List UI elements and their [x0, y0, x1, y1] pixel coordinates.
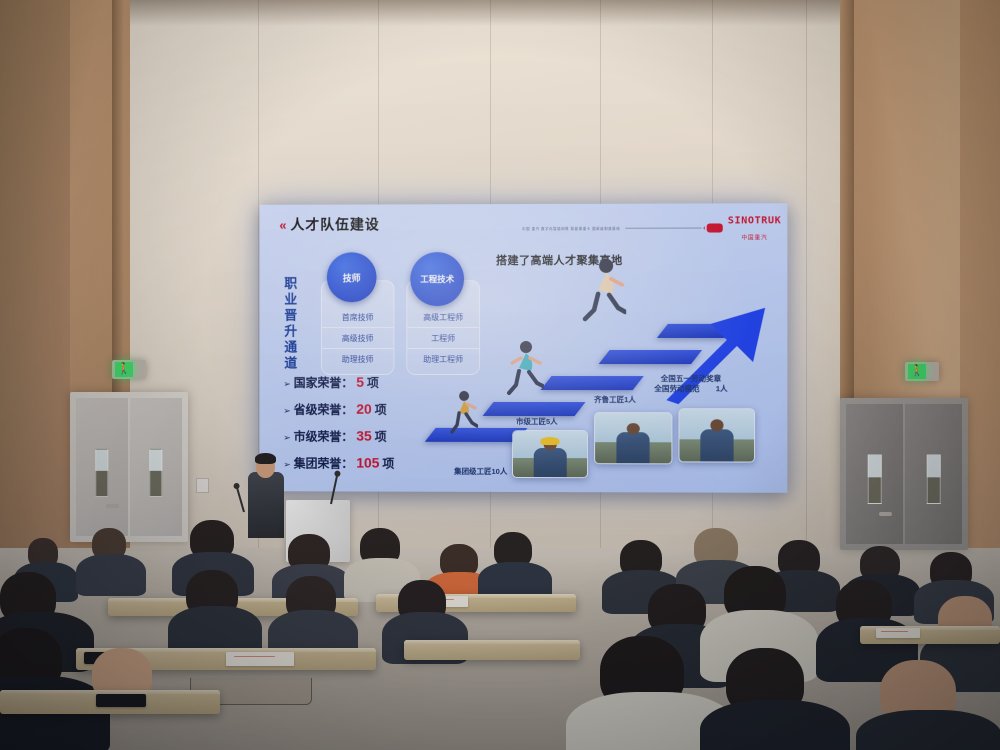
- career-level: 助理技师: [322, 349, 393, 369]
- honor-row: ➢ 省级荣誉： 20 项: [283, 401, 394, 418]
- ceiling-shadow: [118, 0, 848, 26]
- brand-lockup: 中国 重汽 数字化智能网联 新能源重卡 国家级制造基地 SINOTRUK 中国重…: [522, 211, 781, 244]
- exit-running-man-icon: 🚶: [115, 362, 133, 377]
- career-level: 首席技师: [322, 307, 393, 328]
- projection-screen: « 人才队伍建设 中国 重汽 数字化智能网联 新能源重卡 国家级制造基地 SIN…: [260, 203, 788, 493]
- step-caption-2: 市级工匠5人: [516, 416, 558, 427]
- honor-unit: 项: [375, 428, 387, 445]
- door-handle[interactable]: [106, 504, 119, 508]
- honor-unit: 项: [375, 401, 387, 418]
- honors-list: ➢ 国家荣誉： 5 项 ➢ 省级荣誉： 20 项 ➢ 市级荣誉： 35 项 ➢ …: [283, 374, 394, 482]
- door-window: [149, 448, 162, 497]
- door-leaf[interactable]: [76, 398, 128, 536]
- career-track-technician-badge: 技师: [327, 252, 377, 302]
- award-line-1: 全国五一劳动奖章: [661, 374, 721, 383]
- award-line-2: 全国劳动模范: [654, 384, 699, 393]
- left-wall-far: [0, 0, 70, 560]
- slide-title: « 人才队伍建设: [279, 214, 379, 234]
- worker-photo-2: [594, 412, 672, 464]
- step-caption-3: 齐鲁工匠1人: [594, 394, 636, 405]
- honor-label: 省级荣誉：: [294, 401, 353, 418]
- honor-label: 市级荣誉：: [294, 428, 353, 445]
- honor-value: 5: [356, 374, 364, 390]
- runner-figure-2: [506, 340, 544, 396]
- step-3: [541, 376, 644, 390]
- brand-name-en: SINOTRUK: [728, 215, 781, 226]
- career-track-engineering-badge: 工程技术: [410, 252, 464, 306]
- career-level: 高级技师: [322, 328, 393, 349]
- bullet-arrow-icon: ➢: [283, 406, 290, 417]
- brand-text: SINOTRUK 中国重汽: [728, 211, 781, 243]
- slide-title-text: 人才队伍建设: [290, 214, 379, 234]
- light-switch[interactable]: [196, 478, 209, 493]
- door-left[interactable]: [70, 392, 188, 542]
- door-window: [867, 454, 882, 504]
- sinotruk-emblem-icon: [707, 223, 723, 232]
- bullet-arrow-icon: ➢: [283, 459, 290, 470]
- door-leaf[interactable]: [905, 404, 962, 544]
- bullet-arrow-icon: ➢: [283, 379, 290, 390]
- honor-value: 105: [356, 455, 379, 471]
- brand-tagline: 中国 重汽 数字化智能网联 新能源重卡 国家级制造基地: [522, 225, 620, 230]
- bullet-arrow-icon: ➢: [283, 433, 290, 444]
- award-caption: 全国五一劳动奖章 全国劳动模范 1人: [654, 374, 727, 394]
- exit-running-man-icon: 🚶: [908, 364, 926, 379]
- audience-body: [700, 700, 850, 750]
- honor-label: 国家荣誉：: [294, 374, 353, 391]
- brand-name-cn: 中国重汽: [741, 235, 767, 241]
- door-right[interactable]: [840, 398, 968, 550]
- honor-row: ➢ 集团荣誉： 105 项: [283, 454, 394, 471]
- brand-rule: [625, 227, 701, 228]
- award-count: 1人: [716, 384, 728, 393]
- honor-unit: 项: [382, 455, 394, 472]
- desk-row: [404, 640, 580, 660]
- presenter-hair: [255, 453, 276, 464]
- paper-handout[interactable]: [876, 628, 920, 638]
- honor-value: 20: [356, 401, 371, 417]
- honor-value: 35: [356, 428, 371, 444]
- exit-sign-right: 🚶: [905, 362, 939, 381]
- door-window: [926, 454, 941, 504]
- chevron-left-icon: «: [279, 217, 284, 232]
- door-window: [95, 448, 108, 497]
- exit-sign-left: 🚶: [112, 360, 146, 379]
- door-leaf[interactable]: [130, 398, 182, 536]
- audience-body: [856, 710, 1000, 750]
- runner-figure-1: [448, 390, 478, 434]
- wall-panel-seam: [806, 0, 807, 560]
- honor-unit: 项: [367, 374, 379, 391]
- career-path-vertical-label: 职业晋升通道: [281, 276, 299, 372]
- lecture-hall-photo: 🚶 🚶 «: [0, 0, 1000, 750]
- worker-photo-3: [678, 408, 755, 462]
- runner-figure-3: [582, 258, 626, 322]
- door-handle[interactable]: [879, 512, 892, 516]
- smartphone[interactable]: [96, 694, 146, 707]
- honor-label: 集团荣誉：: [294, 454, 353, 471]
- honor-row: ➢ 市级荣誉： 35 项: [283, 428, 394, 445]
- presenter-body: [248, 472, 284, 538]
- step-2: [483, 402, 586, 416]
- paper-handout[interactable]: [226, 652, 294, 666]
- audience-body: [76, 554, 146, 596]
- honor-row: ➢ 国家荣誉： 5 项: [283, 374, 394, 391]
- door-leaf[interactable]: [846, 404, 903, 544]
- worker-photo-1: [512, 430, 588, 478]
- step-caption-1: 集团级工匠10人: [454, 466, 507, 477]
